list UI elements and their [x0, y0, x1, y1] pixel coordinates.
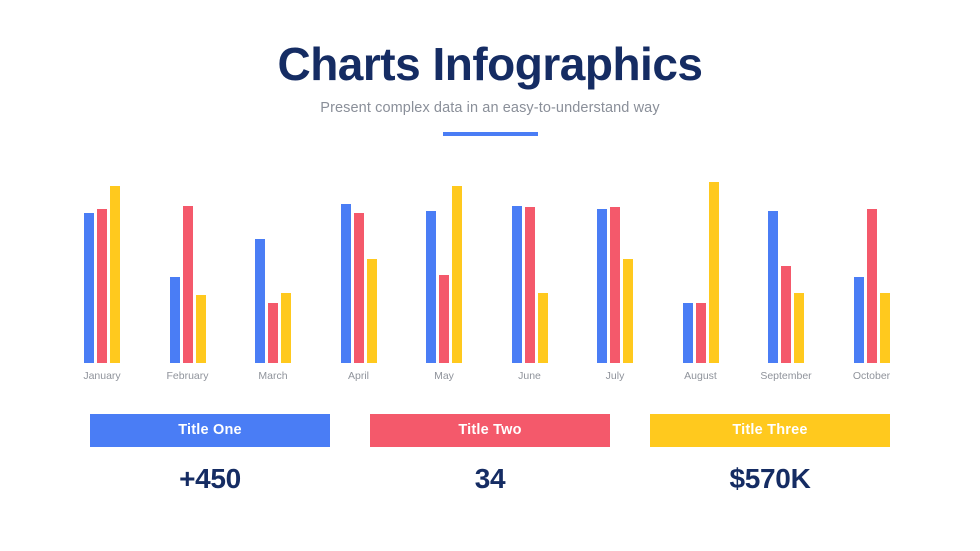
stat-card-label: Title Three: [650, 414, 890, 447]
page-subtitle: Present complex data in an easy-to-under…: [0, 100, 980, 116]
stat-card-value: +450: [90, 463, 330, 495]
bar-group: [426, 180, 462, 363]
page-title: Charts Infographics: [0, 40, 980, 88]
bar: [512, 206, 522, 363]
bar: [439, 275, 449, 363]
bar-chart: [84, 178, 914, 363]
bar: [610, 207, 620, 363]
bar: [170, 277, 180, 363]
bar: [354, 213, 364, 363]
bar: [623, 259, 633, 363]
bar: [97, 209, 107, 363]
bar: [854, 277, 864, 363]
bar: [196, 295, 206, 363]
axis-label: January: [83, 370, 120, 382]
slide-header: Charts Infographics Present complex data…: [0, 40, 980, 136]
axis-label: September: [760, 370, 811, 382]
bar: [281, 293, 291, 363]
axis-label: March: [258, 370, 287, 382]
axis-label: May: [434, 370, 454, 382]
bar-group: [170, 180, 206, 363]
bar-group: [854, 180, 890, 363]
stat-card-list: Title One+450Title Two34Title Three$570K: [0, 414, 980, 504]
stat-card: Title Three$570K: [650, 414, 890, 504]
bar-group: [84, 180, 120, 363]
axis-label: August: [684, 370, 717, 382]
axis-label: October: [853, 370, 890, 382]
bar: [781, 266, 791, 363]
bar-group: [512, 180, 548, 363]
bar: [597, 209, 607, 363]
bar: [525, 207, 535, 363]
stat-card-value: $570K: [650, 463, 890, 495]
bar: [452, 186, 462, 364]
bar: [426, 211, 436, 363]
bar: [183, 206, 193, 363]
bar: [880, 293, 890, 363]
bar: [255, 239, 265, 363]
axis-label: April: [348, 370, 369, 382]
bar: [696, 303, 706, 363]
axis-label: July: [606, 370, 625, 382]
bar-group: [341, 180, 377, 363]
bar: [367, 259, 377, 363]
bar: [709, 182, 719, 363]
bar: [867, 209, 877, 363]
stat-card-label: Title One: [90, 414, 330, 447]
stat-card-value: 34: [370, 463, 610, 495]
bar: [268, 303, 278, 363]
axis-label: February: [166, 370, 208, 382]
stat-card: Title One+450: [90, 414, 330, 504]
infographic-slide: Charts Infographics Present complex data…: [0, 0, 980, 551]
bar-group: [255, 180, 291, 363]
stat-card-label: Title Two: [370, 414, 610, 447]
bar: [84, 213, 94, 363]
bar: [683, 303, 693, 363]
bar: [768, 211, 778, 363]
bar: [794, 293, 804, 363]
bar-group: [768, 180, 804, 363]
title-accent-rule: [443, 132, 538, 136]
bar: [110, 186, 120, 364]
bar: [538, 293, 548, 363]
bar: [341, 204, 351, 363]
bar-group: [597, 180, 633, 363]
axis-label: June: [518, 370, 541, 382]
chart-x-axis-labels: JanuaryFebruaryMarchAprilMayJuneJulyAugu…: [0, 370, 980, 386]
stat-card: Title Two34: [370, 414, 610, 504]
bar-group: [683, 180, 719, 363]
